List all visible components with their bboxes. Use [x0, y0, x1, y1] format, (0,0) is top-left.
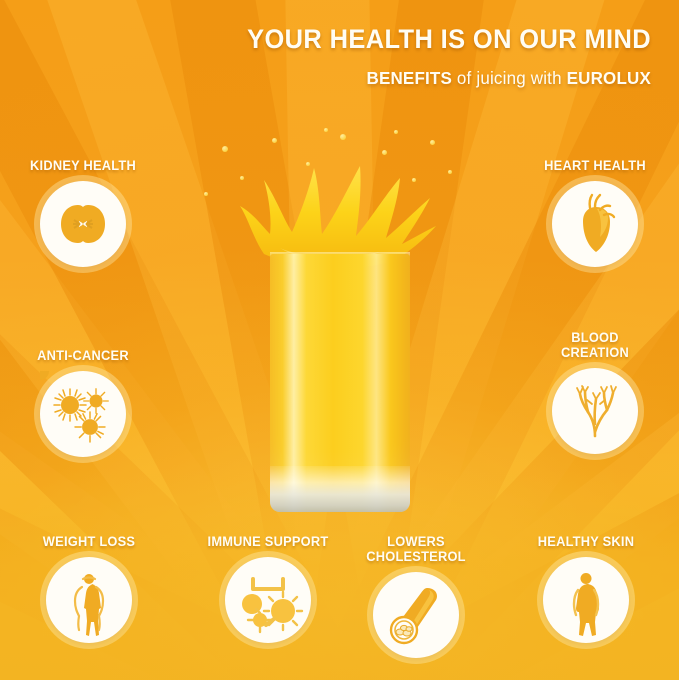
benefit-label: ANTI-CANCER	[12, 348, 155, 363]
juice-droplet	[448, 170, 452, 174]
juice-droplet	[430, 140, 435, 145]
benefit-healthy-skin[interactable]: HEALTHY SKIN	[511, 534, 661, 643]
juice-droplet	[272, 138, 277, 143]
benefit-weight-loss[interactable]: WEIGHT LOSS	[14, 534, 164, 643]
benefit-label: IMMUNE SUPPORT	[197, 534, 340, 549]
page-subtitle: BENEFITS of juicing with EUROLUX	[20, 68, 651, 89]
juice-droplet	[240, 176, 244, 180]
infographic-poster: YOUR HEALTH IS ON OUR MIND BENEFITS of j…	[0, 0, 679, 680]
benefit-heart-health[interactable]: HEART HEALTH	[520, 158, 670, 267]
blood-vessel-tree-icon	[552, 368, 638, 454]
benefit-badge-circle	[552, 368, 638, 454]
body-weight-icon	[46, 557, 132, 643]
cancer-cells-icon	[40, 371, 126, 457]
heart-icon	[552, 181, 638, 267]
benefit-badge-circle	[46, 557, 132, 643]
benefit-label: HEALTHY SKIN	[515, 534, 658, 549]
kidneys-icon	[40, 181, 126, 267]
benefit-badge-circle	[552, 181, 638, 267]
juice-droplet	[340, 134, 346, 140]
juice-droplet	[306, 162, 310, 166]
juice-droplet	[382, 150, 387, 155]
page-title: YOUR HEALTH IS ON OUR MIND	[26, 26, 651, 54]
benefit-label: LOWERS CHOLESTEROL	[345, 534, 488, 564]
artery-icon	[373, 572, 459, 658]
subtitle-benefits: BENEFITS	[367, 68, 452, 88]
benefit-label: KIDNEY HEALTH	[12, 158, 155, 173]
juice-droplet	[324, 128, 328, 132]
benefit-badge-circle	[373, 572, 459, 658]
benefit-badge-circle	[40, 181, 126, 267]
juice-droplet	[222, 146, 228, 152]
benefit-badge-circle	[543, 557, 629, 643]
benefit-label: WEIGHT LOSS	[18, 534, 161, 549]
juice-droplet	[394, 130, 398, 134]
glass-body	[270, 254, 410, 512]
benefit-kidney-health[interactable]: KIDNEY HEALTH	[8, 158, 158, 267]
antibody-icon	[225, 557, 311, 643]
header: YOUR HEALTH IS ON OUR MIND BENEFITS of j…	[0, 0, 679, 89]
benefit-anti-cancer[interactable]: ANTI-CANCER	[8, 348, 158, 457]
benefit-lowers-cholesterol[interactable]: LOWERS CHOLESTEROL	[341, 534, 491, 658]
juice-droplet	[204, 192, 208, 196]
benefit-blood-creation[interactable]: BLOOD CREATION	[520, 330, 670, 454]
benefit-label: BLOOD CREATION	[524, 330, 667, 360]
juice-glass-illustration	[262, 132, 417, 514]
subtitle-middle: of juicing with	[457, 68, 562, 88]
benefit-label: HEART HEALTH	[524, 158, 667, 173]
benefit-badge-circle	[40, 371, 126, 457]
benefit-immune-support[interactable]: IMMUNE SUPPORT	[193, 534, 343, 643]
human-body-icon	[543, 557, 629, 643]
subtitle-brand: EUROLUX	[567, 68, 651, 88]
juice-droplet	[412, 178, 416, 182]
benefit-badge-circle	[225, 557, 311, 643]
